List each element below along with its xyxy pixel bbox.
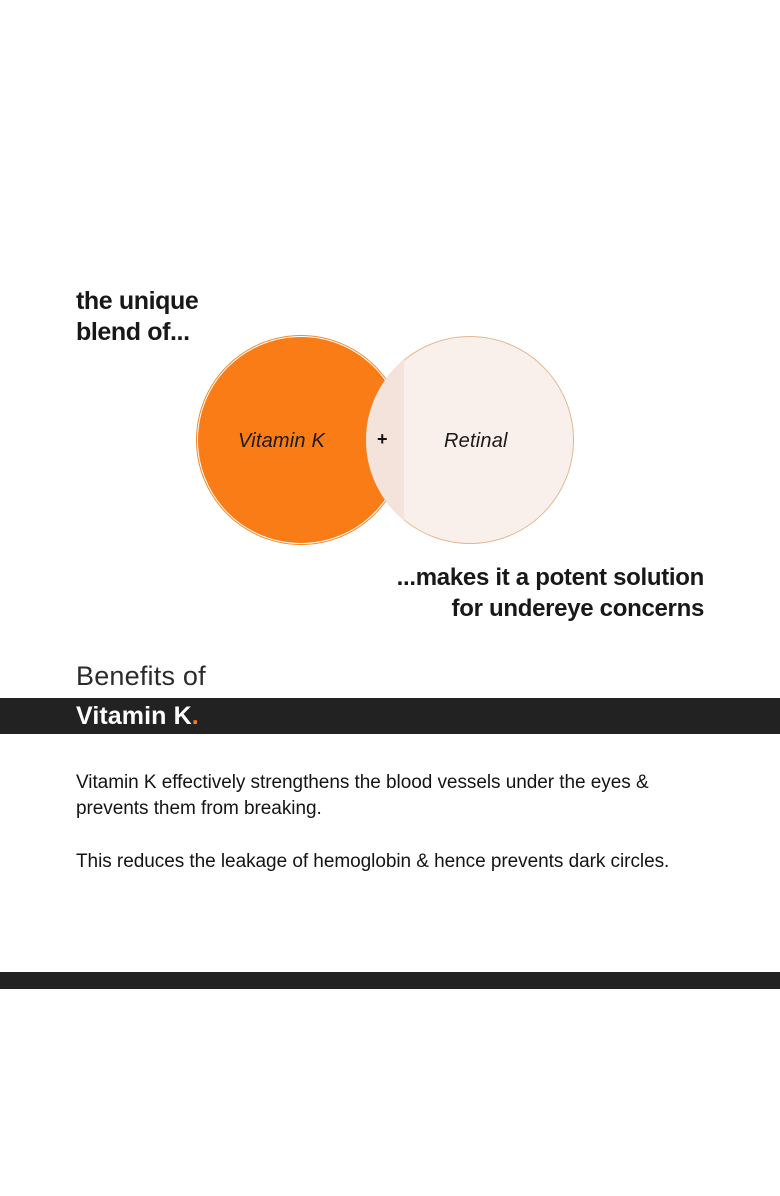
plus-icon: + [377,430,388,448]
benefits-title-bar: Vitamin K. [0,698,780,734]
venn-label-retinal: Retinal [444,430,508,453]
venn-diagram: Vitamin K + Retinal [196,334,580,550]
benefits-paragraph-2: This reduces the leakage of hemoglobin &… [76,849,676,875]
venn-label-vitamin-k: Vitamin K [238,430,325,453]
blend-tagline-text: ...makes it a potent solution for undere… [240,562,704,624]
blend-section: the unique blend of... Vitamin K + Retin… [0,0,780,650]
benefits-eyebrow: Benefits of [76,662,206,692]
benefits-title-accent-dot: . [192,702,199,730]
benefits-paragraph-1: Vitamin K effectively strengthens the bl… [76,770,676,822]
benefits-title: Vitamin K. [76,703,199,731]
product-infographic-page: the unique blend of... Vitamin K + Retin… [0,0,780,1196]
benefits-title-text: Vitamin K [76,702,192,730]
benefits-body: Vitamin K effectively strengthens the bl… [76,770,676,874]
footer-divider-bar [0,972,780,989]
